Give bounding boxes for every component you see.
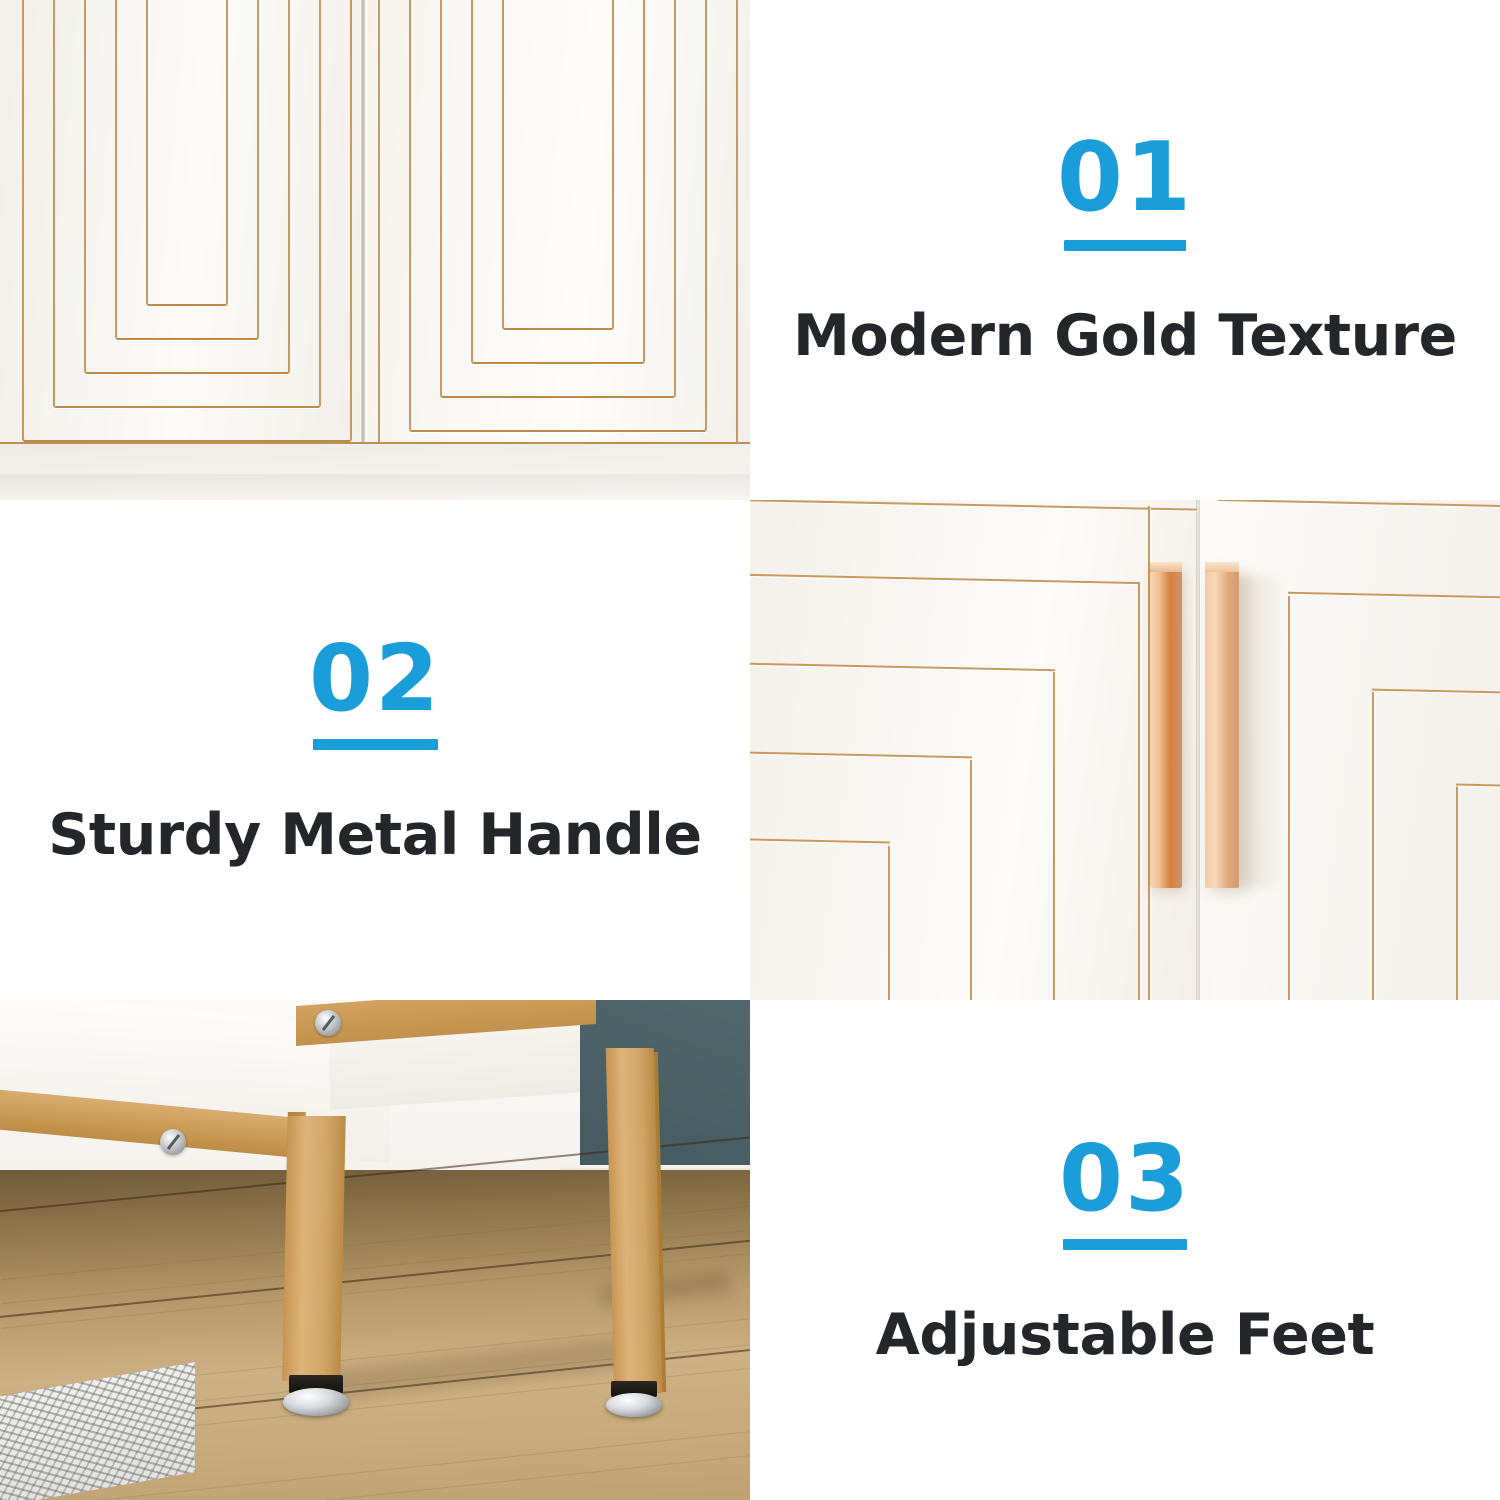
metal-handle-left[interactable] — [1150, 568, 1182, 888]
feature-panel-02: 02 Sturdy Metal Handle — [0, 500, 750, 1000]
kick-plate-shading — [0, 474, 750, 500]
gold-leg-front — [282, 1116, 346, 1381]
feature-number-01: 01 — [1057, 131, 1193, 226]
feature-underline-02 — [313, 739, 438, 750]
cabinet-door-gold-groove-photo — [0, 0, 750, 500]
gold-groove — [146, 0, 228, 306]
gold-step-line — [970, 760, 972, 1000]
gold-step-line — [1138, 582, 1140, 1000]
feature-title-01: Modern Gold Texture — [793, 303, 1457, 369]
screw-icon — [160, 1129, 186, 1155]
gold-step-line — [888, 846, 890, 1000]
metal-handle-right[interactable] — [1205, 568, 1239, 888]
gold-groove — [502, 0, 614, 330]
gold-step-line — [1372, 692, 1374, 1000]
handle-door-seam — [1196, 500, 1200, 1000]
adjustable-foot-pad — [606, 1393, 662, 1417]
screw-icon — [315, 1010, 341, 1036]
feature-number-02: 02 — [309, 633, 441, 725]
metal-handle-right-cap — [1205, 562, 1239, 572]
gold-step-line — [1288, 596, 1290, 1000]
feature-infographic-grid: 01 Modern Gold Texture 02 Sturdy Metal H… — [0, 0, 1500, 1500]
gold-step-line — [1456, 786, 1458, 1000]
feature-title-02: Sturdy Metal Handle — [48, 802, 701, 868]
feature-number-03: 03 — [1059, 1133, 1191, 1225]
gold-step-line — [1053, 672, 1055, 1000]
feature-title-03: Adjustable Feet — [876, 1302, 1375, 1368]
metal-handle-left-cap — [1150, 562, 1182, 572]
metal-handle-photo — [750, 500, 1500, 1000]
adjustable-foot-pad — [283, 1388, 349, 1416]
handle-drop-shadow — [1239, 576, 1283, 888]
feature-underline-03 — [1063, 1239, 1187, 1250]
feature-panel-01: 01 Modern Gold Texture — [750, 0, 1500, 500]
feature-panel-03: 03 Adjustable Feet — [750, 1000, 1500, 1500]
adjustable-feet-photo — [0, 1000, 750, 1500]
gold-leg-back — [606, 1048, 662, 1393]
door-seam — [361, 0, 365, 490]
feature-underline-01 — [1064, 240, 1186, 251]
